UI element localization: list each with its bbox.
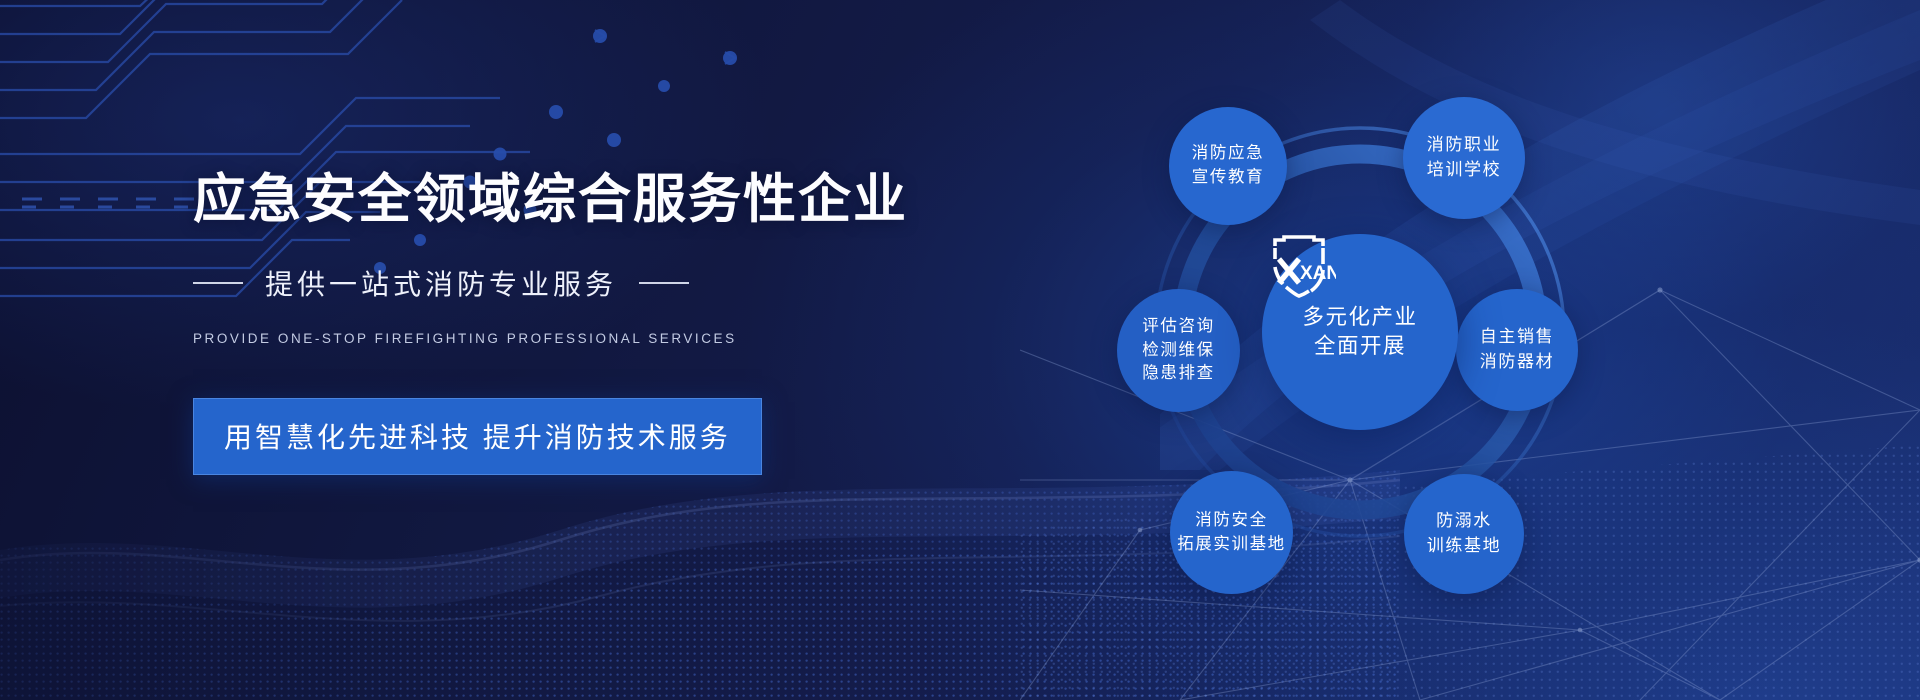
service-node-line1: 消防应急 [1192, 142, 1264, 166]
service-node-line3: 隐患排查 [1142, 362, 1214, 386]
hero-copy: 应急安全领域综合服务性企业 提供一站式消防专业服务 PROVIDE ONE-ST… [193, 170, 933, 475]
service-node-top-left[interactable]: 消防应急 宣传教育 [1169, 107, 1287, 225]
service-node-line2: 培训学校 [1427, 158, 1501, 183]
service-node-line1: 防溺水 [1436, 509, 1492, 534]
hero-banner: 应急安全领域综合服务性企业 提供一站式消防专业服务 PROVIDE ONE-ST… [0, 0, 1920, 700]
service-node-bottom-right[interactable]: 防溺水 训练基地 [1404, 474, 1524, 594]
service-node-center[interactable]: XAN 多元化产业 全面开展 [1262, 234, 1458, 430]
subtitle-english: PROVIDE ONE-STOP FIREFIGHTING PROFESSION… [193, 331, 933, 346]
service-node-top-right[interactable]: 消防职业 培训学校 [1403, 97, 1525, 219]
service-node-line2: 宣传教育 [1192, 166, 1264, 190]
service-node-line2: 训练基地 [1427, 534, 1501, 559]
shield-logo-icon: XAN [1262, 234, 1336, 300]
service-node-line1: 消防安全 [1195, 509, 1267, 533]
page-title: 应急安全领域综合服务性企业 [193, 170, 933, 229]
center-line2: 全面开展 [1302, 332, 1417, 361]
service-node-line1: 评估咨询 [1142, 315, 1214, 339]
service-node-line2: 检测维保 [1142, 339, 1214, 363]
service-node-left[interactable]: 评估咨询 检测维保 隐患排查 [1117, 289, 1240, 412]
services-circle-diagram: 消防应急 宣传教育 消防职业 培训学校 评估咨询 检测维保 隐患排查 自主销售 … [1148, 86, 1808, 616]
logo-wordmark: XAN [1300, 263, 1336, 284]
center-line1: 多元化产业 [1302, 303, 1417, 332]
service-node-bottom-left[interactable]: 消防安全 拓展实训基地 [1170, 471, 1293, 594]
service-node-line1: 自主销售 [1480, 325, 1554, 350]
rule-left-icon [193, 282, 243, 284]
cta-banner-label: 用智慧化先进科技 提升消防技术服务 [224, 422, 731, 453]
subtitle-chinese: 提供一站式消防专业服务 [265, 263, 617, 303]
subtitle-row: 提供一站式消防专业服务 [193, 263, 933, 303]
center-label: 多元化产业 全面开展 [1302, 303, 1417, 361]
service-node-line1: 消防职业 [1427, 133, 1501, 158]
service-node-line2: 拓展实训基地 [1177, 533, 1286, 557]
rule-right-icon [639, 282, 689, 284]
service-node-right[interactable]: 自主销售 消防器材 [1456, 289, 1578, 411]
cta-banner[interactable]: 用智慧化先进科技 提升消防技术服务 [193, 398, 762, 475]
service-node-line2: 消防器材 [1480, 350, 1554, 375]
